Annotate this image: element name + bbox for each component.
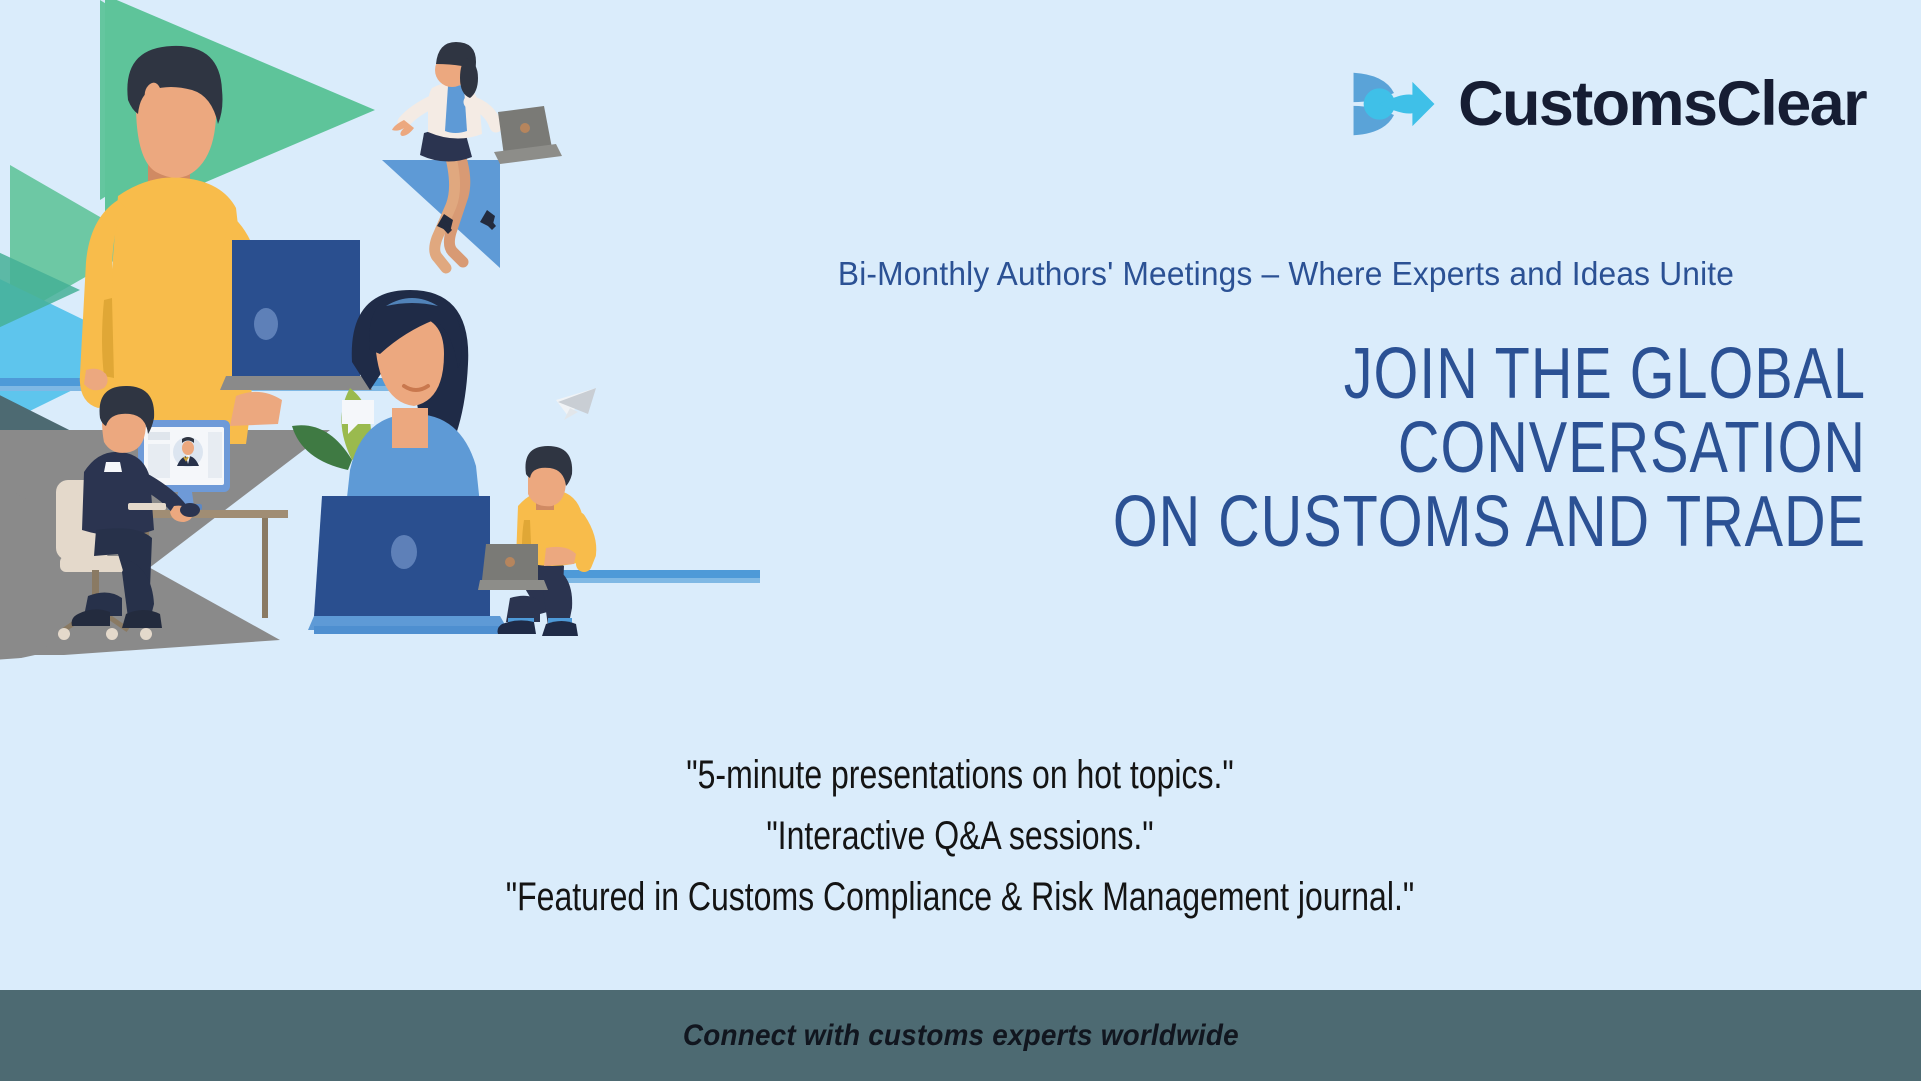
footer-bar: Connect with customs experts worldwide [0, 990, 1921, 1081]
tagline: Bi-Monthly Authors' Meetings – Where Exp… [729, 255, 1843, 293]
highlights-list: "5-minute presentations on hot topics." … [380, 745, 1540, 928]
brand-wordmark: CustomsClear [1458, 73, 1866, 136]
remote-collaboration-illustration [0, 0, 760, 680]
page-title: JOIN THE GLOBAL CONVERSATION ON CUSTOMS … [706, 337, 1866, 559]
headline-line-2: CONVERSATION [938, 411, 1866, 485]
promo-banner: CustomsClear Bi-Monthly Authors' Meeting… [0, 0, 1921, 1081]
headline-line-3: ON CUSTOMS AND TRADE [938, 485, 1866, 559]
headline-line-1: JOIN THE GLOBAL [938, 337, 1866, 411]
highlight-item: "5-minute presentations on hot topics." [496, 745, 1424, 806]
highlight-item: "Interactive Q&A sessions." [496, 806, 1424, 867]
arrow-play-mark-icon [1348, 58, 1440, 150]
footer-text: Connect with customs experts worldwide [683, 1019, 1239, 1053]
highlight-item: "Featured in Customs Compliance & Risk M… [496, 867, 1424, 928]
brand-logo[interactable]: CustomsClear [1348, 58, 1866, 150]
